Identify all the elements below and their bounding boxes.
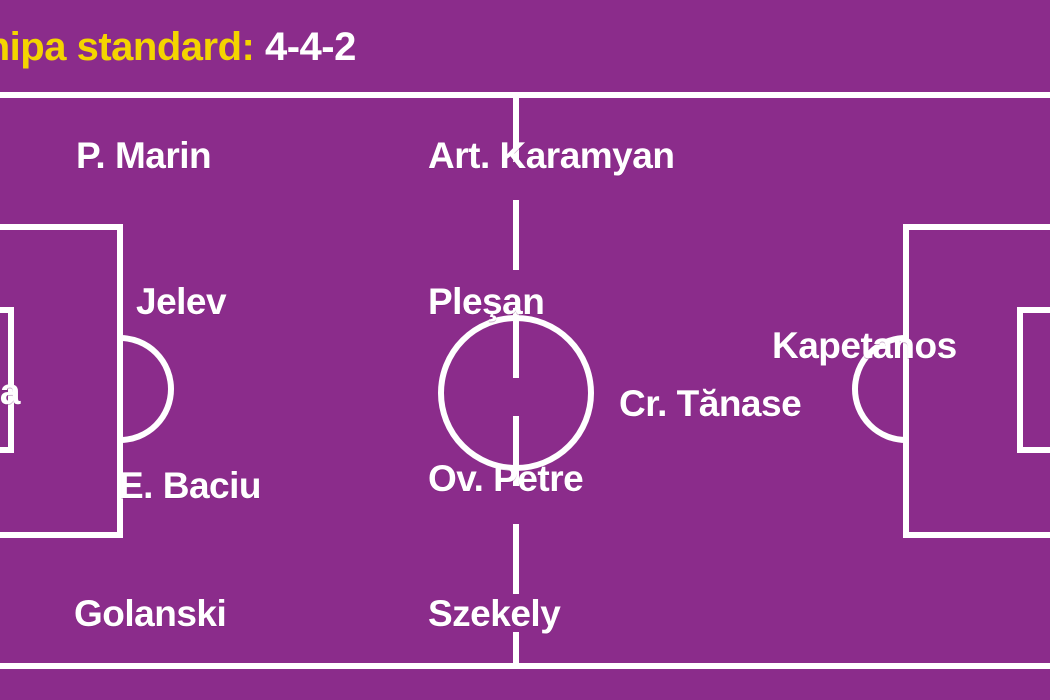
football-pitch: P. Marin Art. Karamyan Jelev Pleşan Kape… <box>0 92 1050 700</box>
player-label: Jelev <box>136 283 226 320</box>
penalty-area-right <box>906 227 1050 535</box>
player-label: P. Marin <box>76 137 211 174</box>
header-bar: chipa standard: 4-4-2 <box>0 0 1050 92</box>
goal-area-right <box>1020 310 1050 450</box>
page-title-label: chipa standard: <box>0 25 254 69</box>
player-label: Kapetanos <box>772 327 957 364</box>
page-title: chipa standard: 4-4-2 <box>0 25 356 67</box>
player-label: Ov. Petre <box>428 460 583 497</box>
player-label: Art. Karamyan <box>428 137 674 174</box>
formation-value: 4-4-2 <box>265 25 356 69</box>
lineup-graphic: chipa standard: 4-4-2 P. Ma <box>0 0 1050 700</box>
penalty-arc-left <box>120 338 171 440</box>
player-label: Golanski <box>74 595 226 632</box>
player-label: ta <box>0 373 20 410</box>
player-label: Pleşan <box>428 283 544 320</box>
player-label: Szekely <box>428 595 560 632</box>
player-label: Cr. Tănase <box>619 385 801 422</box>
player-label: E. Baciu <box>119 467 261 504</box>
